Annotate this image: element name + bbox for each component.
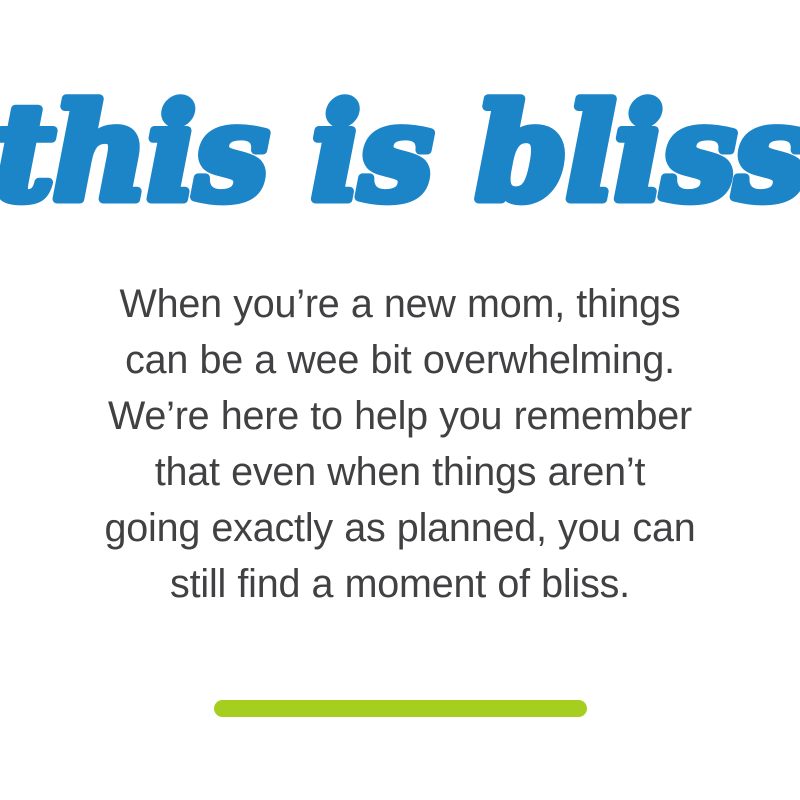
poster-canvas: this is bliss When you’re a new mom, thi… xyxy=(0,0,800,800)
headline-text: this is bliss xyxy=(0,76,800,231)
green-divider-bar xyxy=(214,700,587,717)
body-line-6: still find a moment of bliss. xyxy=(50,556,750,612)
body-line-3: We’re here to help you remember xyxy=(50,388,750,444)
divider-block xyxy=(0,700,800,717)
body-copy: When you’re a new mom, things can be a w… xyxy=(50,276,750,612)
headline-block: this is bliss xyxy=(0,86,800,236)
body-line-4: that even when things aren’t xyxy=(50,444,750,500)
body-line-1: When you’re a new mom, things xyxy=(50,276,750,332)
body-line-5: going exactly as planned, you can xyxy=(50,500,750,556)
headline-script-art: this is bliss xyxy=(80,95,720,227)
body-line-2: can be a wee bit overwhelming. xyxy=(50,332,750,388)
